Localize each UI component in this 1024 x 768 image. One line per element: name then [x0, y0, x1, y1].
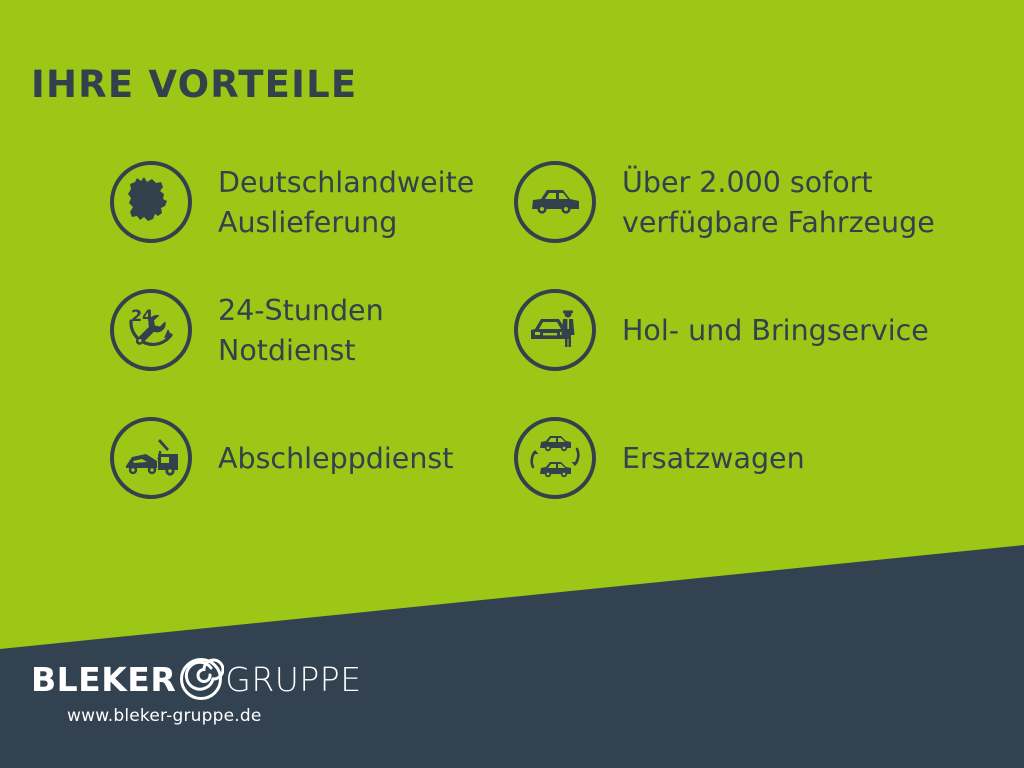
clock-24-wrench-icon: 24 — [110, 289, 192, 371]
logo-gruppe-text: GRUPPE — [225, 660, 361, 699]
slide-root: IHRE VORTEILE Deutschlandweite Ausliefer… — [0, 0, 1024, 768]
benefit-label: Hol- und Bringservice — [622, 311, 929, 351]
car-icon — [514, 161, 596, 243]
benefit-label: Deutschlandweite Auslieferung — [218, 163, 474, 243]
car-with-person-icon — [514, 289, 596, 371]
benefit-item-deutschlandweite-auslieferung[interactable]: Deutschlandweite Auslieferung — [110, 152, 510, 280]
benefit-label: Ersatzwagen — [622, 439, 805, 479]
logo-bleker-text: BLEKER — [31, 660, 176, 699]
germany-map-icon — [110, 161, 192, 243]
benefit-label: Abschleppdienst — [218, 439, 453, 479]
benefit-item-24-stunden-notdienst[interactable]: 24 24-Stunden Notdienst — [110, 280, 510, 408]
benefit-item-verfuegbare-fahrzeuge[interactable]: Über 2.000 sofort verfügbare Fahrzeuge — [514, 152, 984, 280]
benefits-right-column: Über 2.000 sofort verfügbare Fahrzeuge — [514, 152, 984, 536]
page-title: IHRE VORTEILE — [31, 63, 357, 106]
benefits-left-column: Deutschlandweite Auslieferung 24 24-Stun… — [110, 152, 510, 536]
benefit-item-hol-und-bringservice[interactable]: Hol- und Bringservice — [514, 280, 984, 408]
benefit-label: Über 2.000 sofort verfügbare Fahrzeuge — [622, 163, 935, 243]
bleker-spiral-icon — [178, 656, 224, 702]
benefit-item-ersatzwagen[interactable]: Ersatzwagen — [514, 408, 984, 536]
benefit-label: 24-Stunden Notdienst — [218, 291, 384, 371]
footer: BLEKER GRUPPE www.bleker-gruppe.de — [0, 648, 1024, 768]
tow-truck-icon — [110, 417, 192, 499]
brand-logo[interactable]: BLEKER GRUPPE — [31, 656, 362, 702]
two-cars-exchange-icon — [514, 417, 596, 499]
benefit-item-abschleppdienst[interactable]: Abschleppdienst — [110, 408, 510, 536]
website-url[interactable]: www.bleker-gruppe.de — [67, 706, 262, 726]
